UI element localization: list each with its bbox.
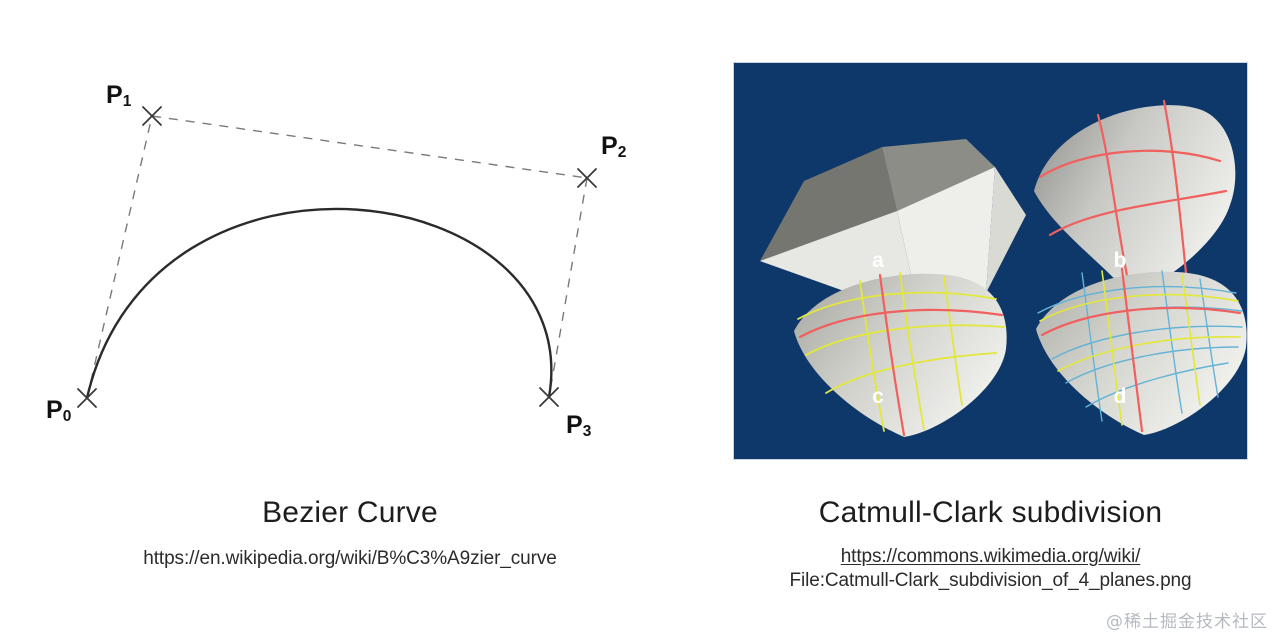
catmull-clark-caption-url-line1[interactable]: https://commons.wikimedia.org/wiki/ — [733, 546, 1248, 568]
control-point-label-p2: P2 — [601, 134, 626, 159]
bezier-svg — [0, 40, 700, 490]
guide-p1-p2 — [152, 116, 587, 178]
stage-label-c: c — [872, 385, 884, 408]
catmull-clark-panel: a b — [733, 62, 1248, 460]
subdivision-stage-c: c — [794, 273, 1007, 437]
catmull-clark-svg: a b — [734, 63, 1247, 459]
bezier-curve-path — [87, 209, 551, 398]
marker-p1 — [143, 107, 161, 125]
control-point-markers — [78, 107, 596, 407]
bezier-caption-url[interactable]: https://en.wikipedia.org/wiki/B%C3%A9zie… — [0, 548, 700, 570]
control-polygon — [87, 116, 587, 398]
catmull-clark-caption-url-line2[interactable]: File:Catmull-Clark_subdivision_of_4_plan… — [733, 570, 1248, 592]
bezier-caption-title: Bezier Curve — [0, 496, 700, 530]
slide-canvas: P0 P1 P2 P3 — [0, 0, 1282, 636]
guide-p0-p1 — [87, 116, 152, 398]
control-point-label-p0: P0 — [46, 398, 71, 423]
guide-p2-p3 — [549, 178, 587, 397]
bezier-caption: Bezier Curve https://en.wikipedia.org/wi… — [0, 496, 700, 570]
subdivision-stage-b: b — [1034, 101, 1235, 295]
control-point-label-p1: P1 — [106, 83, 131, 108]
mesh-surface-d — [1036, 272, 1247, 435]
subdivision-stage-d: d — [1036, 269, 1247, 435]
catmull-clark-image: a b — [733, 62, 1248, 460]
control-point-label-p3: P3 — [566, 413, 591, 438]
catmull-clark-caption: Catmull-Clark subdivision https://common… — [733, 496, 1248, 592]
watermark-text: @稀土掘金技术社区 — [1106, 607, 1268, 632]
marker-p0 — [78, 389, 96, 407]
catmull-clark-caption-title: Catmull-Clark subdivision — [733, 496, 1248, 530]
stage-label-b: b — [1114, 249, 1127, 272]
marker-p2 — [578, 169, 596, 187]
mesh-surface-b — [1034, 105, 1235, 295]
stage-label-d: d — [1114, 385, 1127, 408]
bezier-figure — [0, 40, 700, 490]
stage-label-a: a — [872, 249, 884, 272]
